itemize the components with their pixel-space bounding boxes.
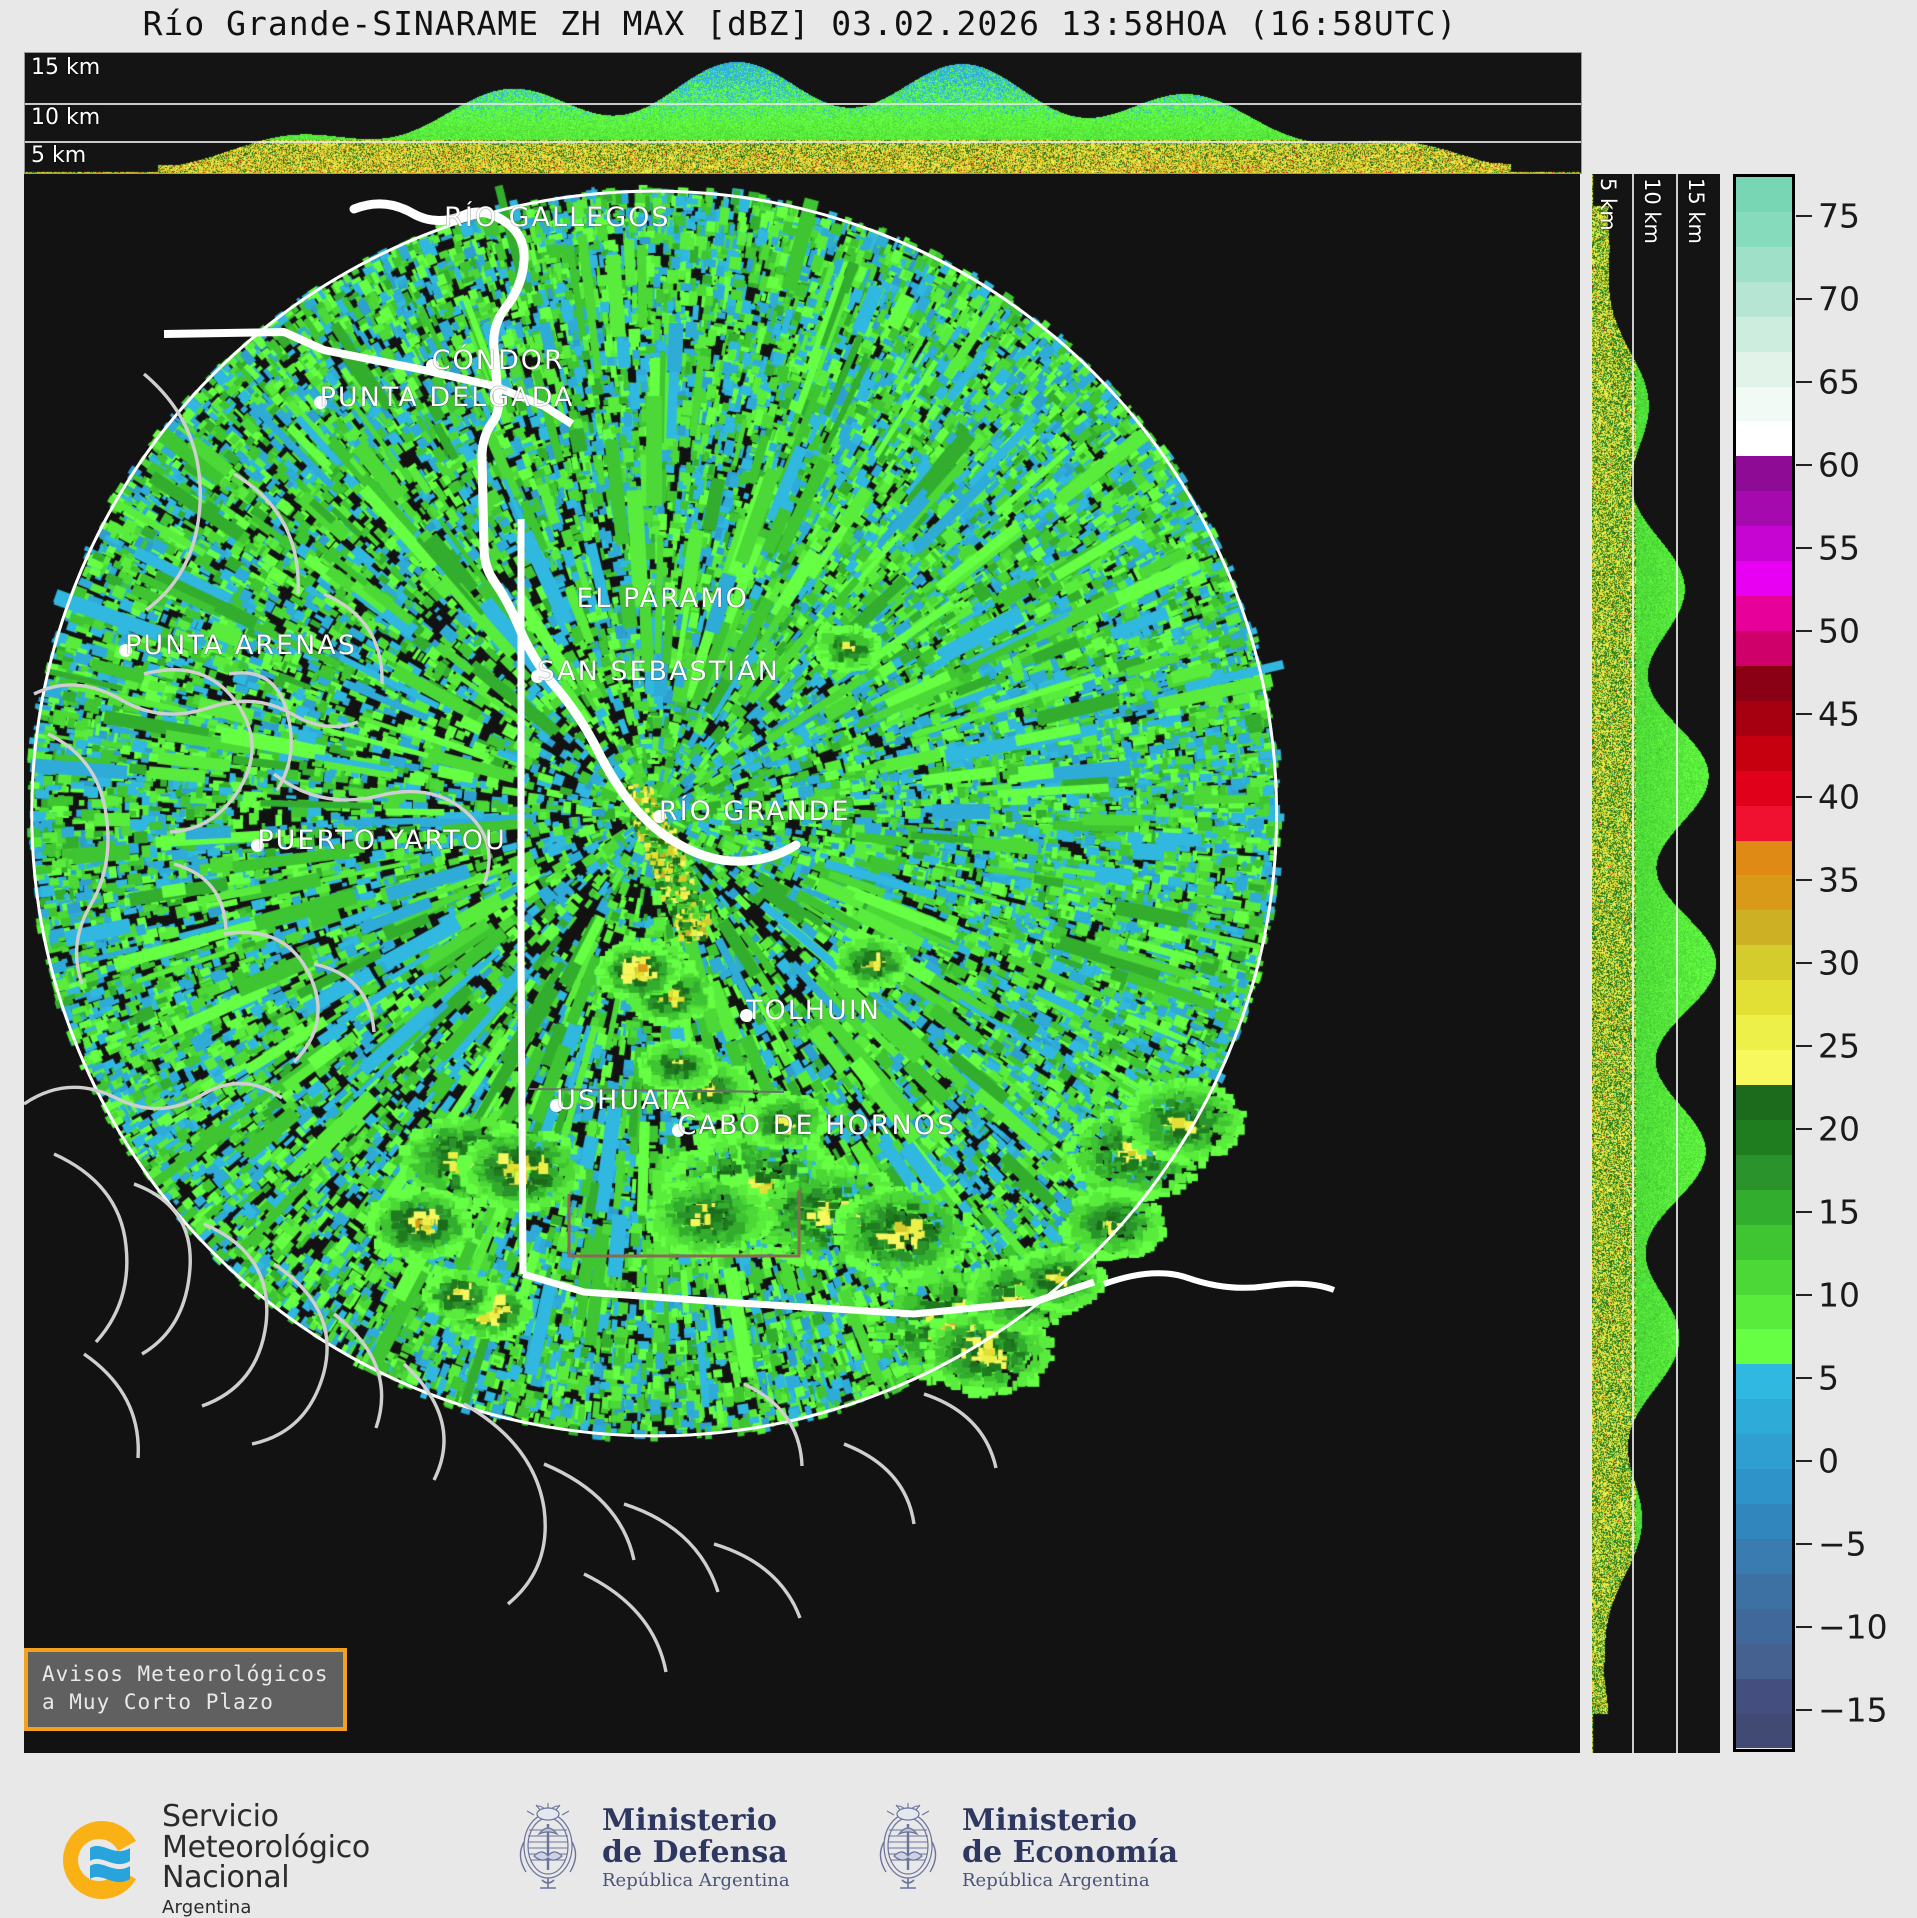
colorbar-segment [1736, 596, 1792, 631]
colorbar-tick-label: 30 [1818, 944, 1860, 983]
defensa-line-1: Ministerio [602, 1805, 790, 1837]
colorbar-tick-label: 35 [1818, 860, 1860, 899]
colorbar-segment [1736, 945, 1792, 980]
colorbar-tick [1796, 630, 1812, 632]
colorbar-segment [1736, 1399, 1792, 1434]
colorbar-tick [1796, 796, 1812, 798]
colorbar-tick [1796, 1460, 1812, 1462]
smn-line-1: Servicio [162, 1802, 370, 1833]
colorbar-segment [1736, 736, 1792, 771]
colorbar-segment [1736, 491, 1792, 526]
city-marker-dot [740, 1009, 753, 1022]
defensa-line-3: República Argentina [602, 1870, 790, 1891]
smn-line-3: Nacional [162, 1863, 370, 1894]
colorbar-segment [1736, 561, 1792, 596]
colorbar-segment [1736, 1260, 1792, 1295]
colorbar-tick-label: 20 [1818, 1110, 1860, 1149]
colorbar-segment [1736, 1609, 1792, 1644]
colorbar-segment [1736, 980, 1792, 1015]
right-rhi-label-10km: 10 km [1640, 178, 1664, 244]
colorbar-segment [1736, 771, 1792, 806]
colorbar-segment [1736, 1364, 1792, 1399]
colorbar-tick [1796, 713, 1812, 715]
colorbar-segment [1736, 910, 1792, 945]
right-rhi-gridline-10km [1676, 174, 1678, 1753]
coastline-secondary [84, 1354, 138, 1458]
colorbar-segment [1736, 1539, 1792, 1574]
smn-line-4: Argentina [162, 1897, 370, 1918]
coastline-secondary [144, 670, 252, 832]
colorbar-segment [1736, 666, 1792, 701]
coastline-secondary [34, 685, 358, 727]
top-rhi-gridline-5km [25, 141, 1581, 143]
right-rhi-label-5km: 5 km [1596, 178, 1620, 231]
top-rhi-label-5km: 5 km [31, 143, 86, 168]
colorbar-segment [1736, 526, 1792, 561]
footer-logos: Servicio Meteorológico Nacional Argentin… [0, 1786, 1917, 1909]
colorbar-tick-label: 55 [1818, 528, 1860, 567]
beagle-channel [523, 1274, 1094, 1314]
colorbar-segment [1736, 1155, 1792, 1190]
colorbar-tick [1796, 1045, 1812, 1047]
colorbar-tick-label: 60 [1818, 445, 1860, 484]
colorbar-tick-label: 45 [1818, 694, 1860, 733]
coastline-secondary [324, 594, 382, 684]
colorbar-tick-label: 25 [1818, 1027, 1860, 1066]
coastline-secondary [234, 474, 298, 594]
colorbar-segment [1736, 1050, 1792, 1085]
coastline-secondary [404, 1364, 444, 1480]
coastline-secondary [54, 1154, 127, 1342]
colorbar-segment [1736, 701, 1792, 736]
colorbar-tick-label: 5 [1818, 1359, 1839, 1398]
colorbar-segment [1736, 282, 1792, 317]
logo-ministerio-economia: Ministerio de Economía República Argenti… [868, 1800, 1178, 1896]
coastline-secondary [174, 864, 226, 930]
coastline-secondary [314, 964, 374, 1032]
top-rhi-canvas [25, 53, 1581, 173]
coastline-secondary [624, 1504, 718, 1592]
colorbar-tick [1796, 1211, 1812, 1213]
colorbar-segment [1736, 1504, 1792, 1539]
colorbar-segment [1736, 1329, 1792, 1364]
map-overlay-vectors [24, 174, 1580, 1753]
colorbar-segment [1736, 1679, 1792, 1714]
right-rhi-label-15km: 15 km [1684, 178, 1708, 244]
colorbar-segment [1736, 421, 1792, 456]
colorbar-tick-label: 40 [1818, 777, 1860, 816]
warning-line-1: Avisos Meteorológicos [42, 1661, 329, 1689]
coastline-secondary [714, 1544, 800, 1618]
colorbar-segment [1736, 1469, 1792, 1504]
coastline-secondary [584, 1574, 666, 1672]
coastline-secondary [24, 1083, 282, 1108]
colorbar-tick-label: −15 [1818, 1691, 1888, 1730]
colorbar-segment [1736, 352, 1792, 387]
coastline-secondary [544, 1464, 634, 1560]
colorbar-segment [1736, 1085, 1792, 1120]
vertical-max-projection-top-panel: 15 km 10 km 5 km [24, 52, 1582, 174]
coastline-secondary [144, 374, 200, 610]
colorbar-segment [1736, 1190, 1792, 1225]
coastline-secondary [48, 734, 108, 984]
colorbar-tick [1796, 1294, 1812, 1296]
city-marker-dot [426, 359, 439, 372]
colorbar-tick-label: −5 [1818, 1525, 1867, 1564]
colorbar-tick [1796, 1709, 1812, 1711]
logo-smn: Servicio Meteorológico Nacional Argentin… [56, 1802, 370, 1918]
coastline-secondary [252, 1264, 327, 1444]
colorbar-tick [1796, 381, 1812, 383]
colorbar-segment [1736, 247, 1792, 282]
colorbar-tick-label: 75 [1818, 196, 1860, 235]
warning-line-2: a Muy Corto Plazo [42, 1689, 329, 1717]
city-marker-dot [251, 839, 264, 852]
colorbar-segment [1736, 1714, 1792, 1749]
colorbar-segment [1736, 387, 1792, 422]
colorbar-tick-label: 15 [1818, 1193, 1860, 1232]
colorbar-segment [1736, 1015, 1792, 1050]
right-rhi-canvas [1592, 174, 1720, 1753]
colorbar-segment [1736, 212, 1792, 247]
top-rhi-label-15km: 15 km [31, 55, 100, 80]
colorbar-segment [1736, 1434, 1792, 1469]
warning-badge[interactable]: Avisos Meteorológicos a Muy Corto Plazo [24, 1648, 347, 1731]
colorbar-segment [1736, 1644, 1792, 1679]
top-rhi-label-10km: 10 km [31, 105, 100, 130]
smn-line-2: Meteorológico [162, 1833, 370, 1864]
latitude-line [529, 1089, 784, 1092]
colorbar-tick [1796, 464, 1812, 466]
right-rhi-gridline-5km [1632, 174, 1634, 1753]
colorbar-tick-label: 65 [1818, 362, 1860, 401]
vertical-max-projection-right-panel: 5 km 10 km 15 km [1592, 174, 1720, 1753]
colorbar-tick-label: −10 [1818, 1608, 1888, 1647]
argentina-coat-of-arms-icon [868, 1800, 948, 1896]
colorbar-tick [1796, 962, 1812, 964]
top-rhi-gridline-10km [25, 103, 1581, 105]
coastline-secondary [464, 1404, 545, 1604]
colorbar-tick-label: 0 [1818, 1442, 1839, 1481]
colorbar-tick-label: 70 [1818, 279, 1860, 318]
coastline-secondary [274, 774, 489, 884]
isla-estados-coast [1104, 1273, 1334, 1290]
smn-mark-icon [56, 1815, 148, 1905]
colorbar-segment [1736, 1225, 1792, 1260]
economia-line-1: Ministerio [962, 1805, 1178, 1837]
colorbar-tick-label: 10 [1818, 1276, 1860, 1315]
colorbar-segment [1736, 317, 1792, 352]
colorbar-segment [1736, 456, 1792, 491]
argentina-coat-of-arms-icon [508, 1800, 588, 1896]
colorbar-segment [1736, 841, 1792, 876]
colorbar-segment [1736, 875, 1792, 910]
protected-area-boundary [569, 1190, 799, 1256]
coastline-secondary [229, 673, 291, 790]
border-chile-meridian [521, 519, 523, 1274]
city-marker-dot [672, 1124, 685, 1137]
colorbar [1733, 174, 1795, 1752]
colorbar-tick [1796, 879, 1812, 881]
coastline-secondary [224, 932, 318, 1062]
economia-line-3: República Argentina [962, 1870, 1178, 1891]
colorbar-segment [1736, 1120, 1792, 1155]
colorbar-segment [1736, 631, 1792, 666]
city-marker-dot [314, 396, 327, 409]
colorbar-tick-label: 50 [1818, 611, 1860, 650]
colorbar-tick [1796, 215, 1812, 217]
colorbar-segment [1736, 806, 1792, 841]
colorbar-tick [1796, 298, 1812, 300]
city-marker-dot [653, 810, 666, 823]
colorbar-segment [1736, 1295, 1792, 1330]
coastline-secondary [924, 1394, 996, 1468]
defensa-line-2: de Defensa [602, 1837, 790, 1869]
coastline-secondary [844, 1444, 914, 1524]
colorbar-tick [1796, 1377, 1812, 1379]
colorbar-tick [1796, 1128, 1812, 1130]
coastline-secondary [134, 1184, 190, 1354]
colorbar-segment [1736, 1574, 1792, 1609]
economia-line-2: de Economía [962, 1837, 1178, 1869]
colorbar-tick [1796, 1626, 1812, 1628]
coastline-main [354, 204, 796, 861]
colorbar-segment [1736, 177, 1792, 212]
logo-ministerio-defensa: Ministerio de Defensa República Argentin… [508, 1800, 790, 1896]
border-chile-north [164, 332, 572, 424]
page-title: Río Grande-SINARAME ZH MAX [dBZ] 03.02.2… [0, 4, 1600, 43]
colorbar-tick [1796, 1543, 1812, 1545]
colorbar-tick [1796, 547, 1812, 549]
radar-ppi-map[interactable]: RÍO GALLEGOSCÓNDORPUNTA DELGADAPUNTA ARE… [24, 174, 1580, 1753]
